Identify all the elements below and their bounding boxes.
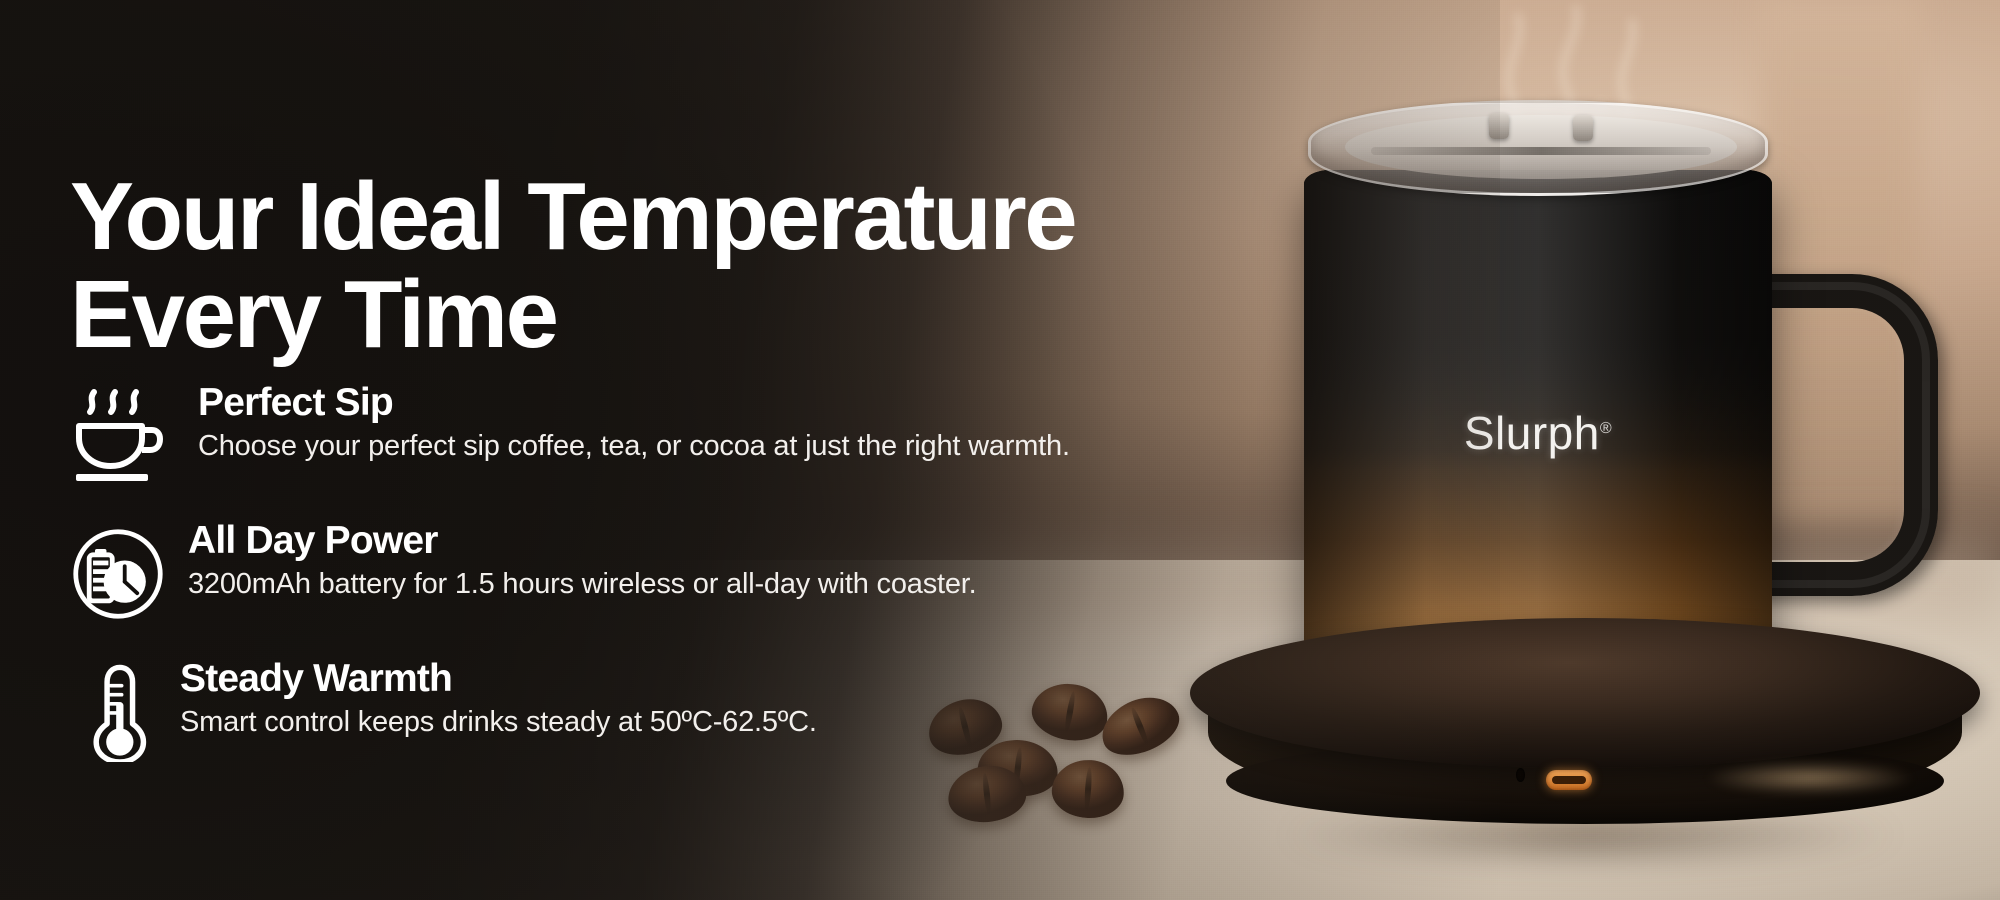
coffee-cup-icon (70, 386, 166, 486)
feature-description: 3200mAh battery for 1.5 hours wireless o… (188, 567, 1270, 602)
feature-title: Perfect Sip (198, 382, 1270, 425)
product-hero-banner: Slurph® 62.5 Your (0, 0, 2000, 900)
marketing-copy: Your Ideal Temperature Every Time Perfec… (60, 0, 1280, 900)
thermometer-icon (70, 662, 166, 762)
feature-item-all-day-power: All Day Power 3200mAh battery for 1.5 ho… (70, 520, 1270, 642)
headline-line-2: Every Time (70, 261, 557, 368)
feature-title: All Day Power (188, 520, 1270, 563)
feature-title: Steady Warmth (180, 658, 1270, 701)
feature-description: Smart control keeps drinks steady at 50º… (180, 705, 1270, 740)
battery-clock-icon (70, 524, 166, 624)
feature-list: Perfect Sip Choose your perfect sip coff… (70, 382, 1270, 796)
page-title: Your Ideal Temperature Every Time (70, 168, 1250, 364)
headline-line-1: Your Ideal Temperature (70, 163, 1075, 270)
feature-item-perfect-sip: Perfect Sip Choose your perfect sip coff… (70, 382, 1270, 504)
feature-description: Choose your perfect sip coffee, tea, or … (198, 429, 1270, 464)
feature-item-steady-warmth: Steady Warmth Smart control keeps drinks… (70, 658, 1270, 780)
